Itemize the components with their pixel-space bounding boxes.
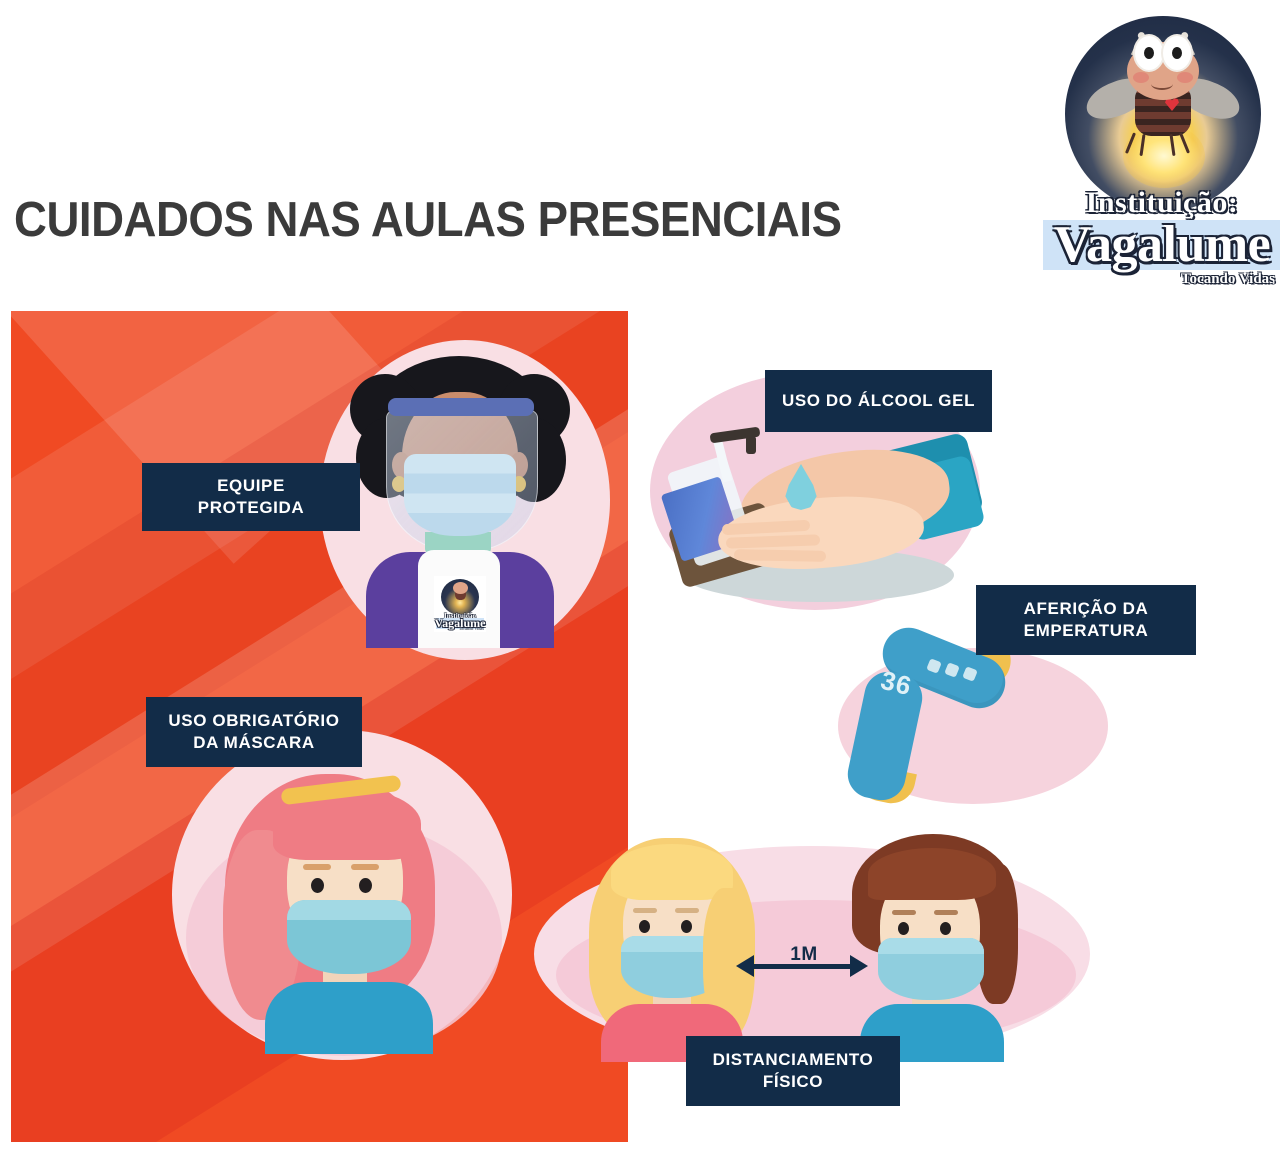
label-line-2: DA MÁSCARA (193, 732, 315, 754)
kid-boy-eyebrow (934, 910, 958, 915)
label-line-2: PROTEGIDA (198, 497, 304, 519)
firefly-head (1127, 42, 1199, 100)
firefly-icon (1065, 16, 1261, 212)
infographic-poster: CUIDADOS NAS AULAS PRESENCIAIS (0, 0, 1280, 1150)
badge-tagline: Tocando Vidas (459, 626, 484, 631)
label-equipe-protegida: EQUIPE PROTEGIDA (142, 463, 360, 531)
heart-icon (1165, 98, 1179, 111)
firefly-eye-right (1161, 34, 1193, 72)
label-line-1: DISTANCIAMENTO (713, 1049, 874, 1071)
label-line-2: EMPERATURA (1024, 620, 1149, 642)
surgical-mask-highlight (878, 938, 984, 954)
label-alcool-gel: USO DO ÁLCOOL GEL (765, 370, 992, 432)
logo-name: Vagalume (1043, 215, 1280, 274)
firefly-smile (1151, 78, 1173, 90)
label-afericao-temperatura: AFERIÇÃO DA EMPERATURA (976, 585, 1196, 655)
label-line-1: AFERIÇÃO DA (1024, 598, 1149, 620)
surgical-mask-highlight (287, 900, 411, 920)
firefly-cheek (1177, 72, 1193, 83)
kid-girl-eyebrow (633, 908, 657, 913)
kid-girl-eye (639, 920, 650, 933)
kid-girl-eyebrow (675, 908, 699, 913)
girl-eyebrow (303, 864, 331, 870)
vagalume-logo: Instituição: Vagalume Tocando Vidas (1043, 16, 1280, 294)
staff-face-shield-icon: Instituição Vagalume Tocando Vidas (330, 356, 590, 646)
kid-boy-fringe (868, 848, 996, 900)
hand-finger (734, 549, 826, 562)
girl-eye (311, 878, 324, 893)
surgical-mask-icon (404, 454, 516, 536)
label-line-1: EQUIPE (217, 475, 285, 497)
kid-girl-icon (575, 836, 765, 1060)
kid-girl-eye (681, 920, 692, 933)
hand-sanitizer-icon (648, 418, 978, 603)
vagalume-shirt-badge: Instituição Vagalume Tocando Vidas (434, 576, 486, 632)
distance-measure-label: 1M (758, 944, 850, 966)
girl-eyebrow (351, 864, 379, 870)
badge-firefly-icon (441, 579, 479, 615)
kid-boy-eye (898, 922, 909, 935)
girl-eye (359, 878, 372, 893)
kid-boy-eye (940, 922, 951, 935)
arrow-head-right (850, 955, 868, 977)
kid-boy-icon (836, 834, 1026, 1060)
label-distanciamento-fisico: DISTANCIAMENTO FÍSICO (686, 1036, 900, 1106)
label-uso-mascara: USO OBRIGATÓRIO DA MÁSCARA (146, 697, 362, 767)
label-line-1: USO OBRIGATÓRIO (168, 710, 339, 732)
girl-shirt (265, 982, 433, 1054)
label-line-1: USO DO ÁLCOOL GEL (782, 390, 975, 412)
face-shield-headband (388, 398, 534, 416)
sanitizer-pump-nozzle (746, 436, 756, 454)
logo-tagline: Tocando Vidas (1181, 271, 1275, 288)
label-line-2: FÍSICO (763, 1071, 823, 1093)
badge-firefly-head (453, 582, 468, 594)
girl-face-mask-icon (215, 760, 465, 1050)
firefly-cheek (1133, 72, 1149, 83)
page-title: CUIDADOS NAS AULAS PRESENCIAIS (14, 192, 935, 248)
kid-boy-eyebrow (892, 910, 916, 915)
kid-girl-bangs (611, 844, 733, 900)
